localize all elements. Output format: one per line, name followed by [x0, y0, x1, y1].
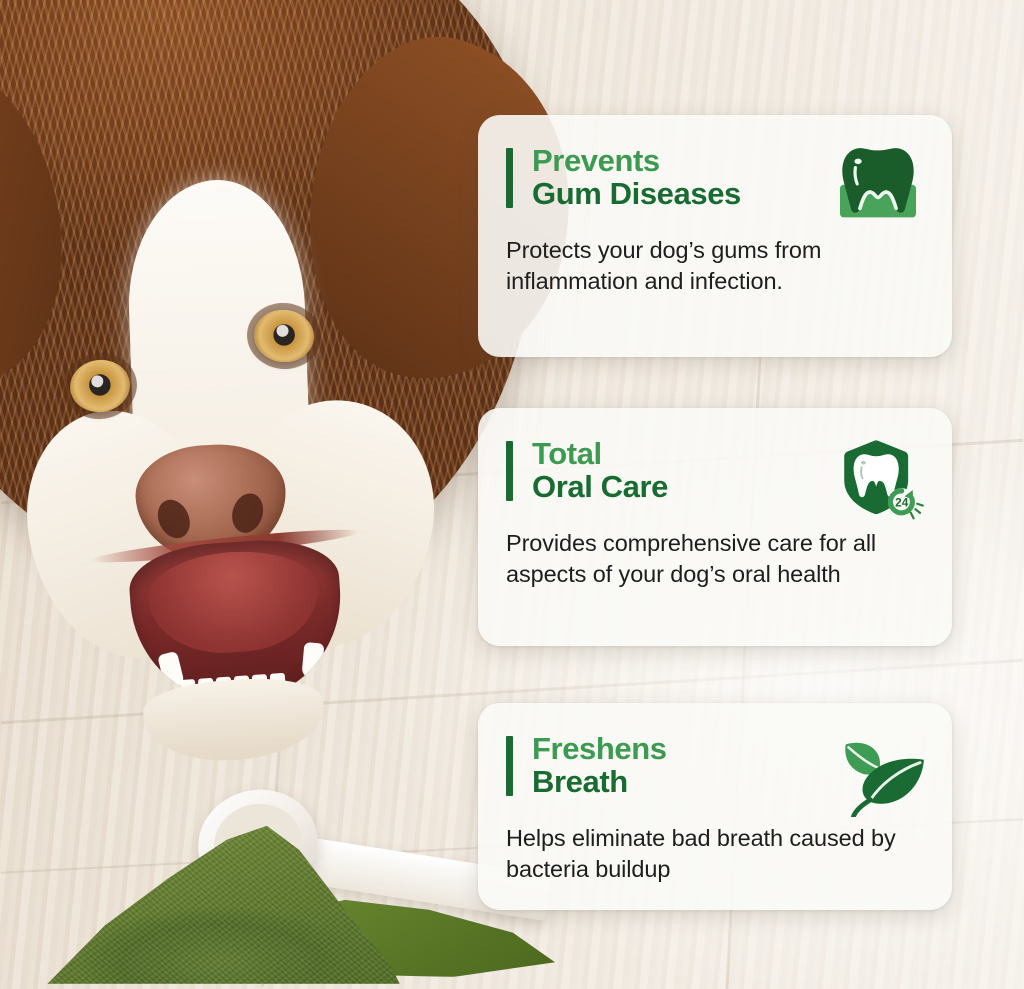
card-titles: Freshens Breath [532, 733, 832, 798]
shield-tooth-24h-icon: 24 [832, 438, 924, 514]
card-title-line2: Oral Care [532, 470, 832, 503]
card-description: Provides comprehensive care for all aspe… [506, 528, 924, 591]
benefit-card-prevents-gum-diseases[interactable]: Prevents Gum Diseases Protects your dog’… [478, 115, 952, 357]
card-title-line2: Gum Diseases [532, 177, 832, 210]
card-header: Freshens Breath [506, 733, 924, 809]
card-title-line1: Prevents [532, 145, 832, 177]
product-benefits-infographic: Prevents Gum Diseases Protects your dog’… [0, 0, 1024, 989]
tooth-gums-icon [832, 145, 924, 221]
dog-nostril [227, 490, 267, 537]
badge-24-text: 24 [895, 495, 909, 509]
card-description: Protects your dog’s gums from inflammati… [506, 235, 924, 298]
leaves-icon [832, 733, 924, 809]
benefit-card-freshens-breath[interactable]: Freshens Breath Helps eliminate bad brea… [478, 703, 952, 910]
card-header: Prevents Gum Diseases [506, 145, 924, 221]
card-title-line1: Total [532, 438, 832, 470]
dog-canine-tooth [301, 642, 324, 680]
card-title-line2: Breath [532, 765, 832, 798]
dog-nostril [152, 495, 196, 544]
card-header: Total Oral Care 24 [506, 438, 924, 514]
accent-bar [506, 148, 513, 208]
accent-bar [506, 736, 513, 796]
card-title-line1: Freshens [532, 733, 832, 765]
card-titles: Total Oral Care [532, 438, 832, 503]
card-description: Helps eliminate bad breath caused by bac… [506, 823, 924, 886]
accent-bar [506, 441, 513, 501]
card-titles: Prevents Gum Diseases [532, 145, 832, 210]
benefit-card-total-oral-care[interactable]: Total Oral Care 24 [478, 408, 952, 646]
dog-tongue [145, 546, 322, 658]
